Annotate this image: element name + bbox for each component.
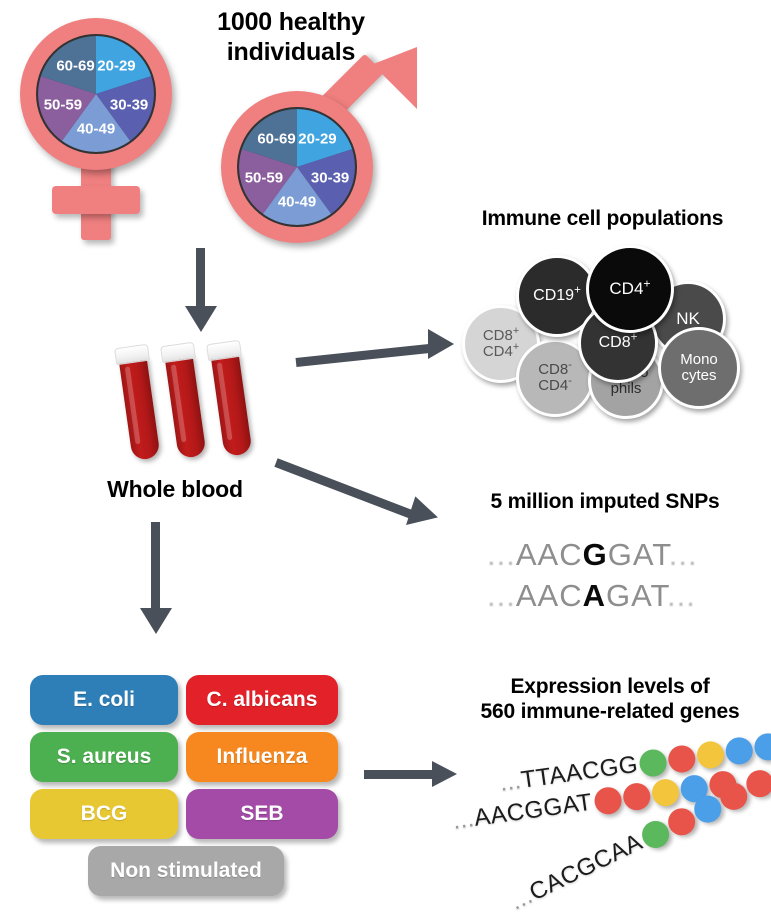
expression-heading: Expression levels of 560 immune-related … — [455, 675, 765, 725]
arrow-head — [406, 496, 442, 533]
immune-cell-cluster: CD8+ CD4+ CD19+ CD4+ NK CD8+ — [460, 245, 760, 420]
stimulus-bcg[interactable]: BCG — [30, 789, 178, 839]
immune-cell-label: Mono cytes — [680, 352, 718, 384]
snp-sequence-row: ...AACAGAT... — [487, 578, 696, 614]
female-symbol: 20-2930-3940-4950-5960-69 — [10, 10, 200, 240]
snp-suffix: GAT — [606, 578, 667, 613]
arrow-shaft — [196, 248, 205, 310]
arrow-shaft — [296, 343, 436, 367]
age-pie-svg: 20-2930-3940-4950-5960-69 — [239, 109, 355, 225]
age-pie-label-50-59: 50-59 — [44, 96, 82, 113]
gene-bead — [753, 731, 771, 761]
age-pie-label-30-39: 30-39 — [311, 169, 349, 186]
immune-heading: Immune cell populations — [450, 207, 755, 232]
immune-cell-label: CD4+ — [609, 280, 650, 298]
immune-cell-monocytes: Mono cytes — [658, 327, 740, 409]
female-stem-cross — [52, 186, 140, 214]
gene-bead — [592, 785, 622, 815]
gene-strand-bases: AACGGAT — [472, 789, 594, 832]
snp-suffix: GAT — [608, 537, 669, 572]
snp-prefix: AAC — [516, 578, 583, 613]
stimulus-label: BCG — [81, 802, 128, 826]
snp-trail-dots: ... — [667, 578, 696, 613]
stimulus-seb[interactable]: SEB — [186, 789, 338, 839]
arrow-head — [140, 608, 172, 634]
age-pie-label-40-49: 40-49 — [278, 193, 316, 210]
gene-strands-group: ...TTAACGG ...AACGGAT ...CACGCAA — [440, 730, 770, 920]
arrow-shaft — [364, 770, 436, 779]
snp-trail-dots: ... — [669, 537, 698, 572]
age-pie-label-30-39: 30-39 — [110, 96, 148, 113]
male-symbol: 20-2930-3940-4950-5960-69 — [205, 55, 425, 255]
figure-canvas: 1000 healthy individuals 20-2930-3940-49… — [0, 0, 771, 922]
cohort-title-line1: 1000 healthy — [176, 8, 406, 38]
stimulus-label: Influenza — [216, 745, 307, 769]
stimulus-label: E. coli — [73, 688, 135, 712]
immune-cell-label: CD19+ — [533, 287, 581, 304]
gene-bead — [638, 747, 668, 777]
expression-heading-line1: Expression levels of — [455, 675, 765, 700]
arrow-head — [428, 329, 454, 359]
age-pie-label-20-29: 20-29 — [298, 130, 336, 147]
gene-strand-sequence: ...CACGCAA — [506, 828, 647, 916]
immune-cell-label: CD8- CD4- — [538, 362, 572, 394]
stimulus-influenza[interactable]: Influenza — [186, 732, 338, 782]
immune-cell-label: NK — [676, 310, 700, 328]
stimulus-label: Non stimulated — [110, 859, 262, 883]
arrow-head — [185, 306, 217, 332]
immune-cell-label: CD8+ — [599, 334, 638, 351]
stimuli-panel: E. coli C. albicans S. aureus Influenza … — [30, 675, 350, 895]
stimulus-c-albicans[interactable]: C. albicans — [186, 675, 338, 725]
snp-variant-allele: A — [583, 578, 606, 613]
age-pie-label-20-29: 20-29 — [97, 57, 135, 74]
gene-bead — [667, 743, 697, 773]
gene-bead — [695, 739, 725, 769]
stimulus-e-coli[interactable]: E. coli — [30, 675, 178, 725]
stimulus-label: S. aureus — [57, 745, 152, 769]
stimulus-non-stimulated[interactable]: Non stimulated — [88, 846, 284, 896]
immune-cell-label: CD8+ CD4+ — [483, 328, 519, 360]
age-pie-label-60-69: 60-69 — [56, 57, 94, 74]
age-pie-svg: 20-2930-3940-4950-5960-69 — [38, 36, 154, 152]
gene-strand-bases: CACGCAA — [525, 828, 647, 906]
female-age-pie: 20-2930-3940-4950-5960-69 — [36, 34, 156, 154]
gene-bead — [650, 777, 680, 807]
whole-blood-label: Whole blood — [80, 476, 270, 503]
stimulus-label: SEB — [240, 802, 283, 826]
expression-heading-line2: 560 immune-related genes — [455, 700, 765, 725]
snp-lead-dots: ... — [487, 578, 516, 613]
age-pie-label-60-69: 60-69 — [257, 130, 295, 147]
snp-prefix: AAC — [516, 537, 583, 572]
male-age-pie: 20-2930-3940-4950-5960-69 — [237, 107, 357, 227]
gene-bead — [621, 781, 651, 811]
gene-bead — [724, 735, 754, 765]
snp-lead-dots: ... — [487, 537, 516, 572]
snp-variant-allele: G — [583, 537, 608, 572]
gene-strand-sequence: ...AACGGAT — [451, 789, 594, 836]
stimulus-s-aureus[interactable]: S. aureus — [30, 732, 178, 782]
arrow-shaft — [151, 522, 160, 612]
stimulus-label: C. albicans — [207, 688, 318, 712]
snp-sequence-row: ...AACGGAT... — [487, 537, 698, 573]
age-pie-label-50-59: 50-59 — [245, 169, 283, 186]
arrow-shaft — [274, 458, 419, 521]
immune-cell-cd4p: CD4+ — [586, 245, 674, 333]
age-pie-label-40-49: 40-49 — [77, 120, 115, 137]
snps-heading: 5 million imputed SNPs — [455, 490, 755, 515]
